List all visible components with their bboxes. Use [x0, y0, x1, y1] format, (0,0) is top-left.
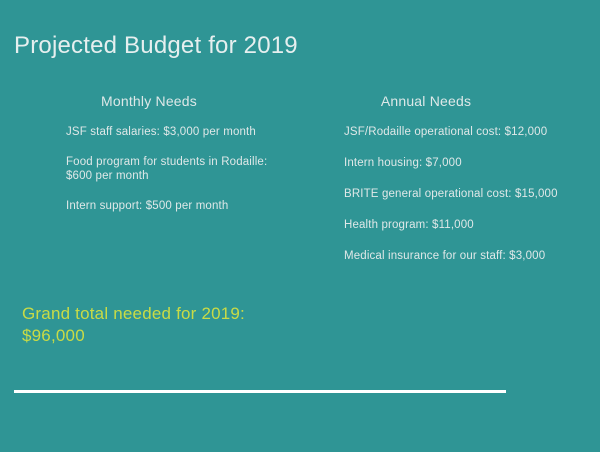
- horizontal-divider: [14, 390, 506, 393]
- list-item: Medical insurance for our staff: $3,000: [310, 249, 590, 263]
- monthly-needs-header: Monthly Needs: [14, 92, 294, 110]
- list-item: BRITE general operational cost: $15,000: [310, 187, 590, 201]
- budget-slide: Projected Budget for 2019 Monthly Needs …: [0, 0, 600, 452]
- list-item: JSF staff salaries: $3,000 per month: [14, 125, 294, 139]
- list-item: Health program: $11,000: [310, 218, 590, 232]
- list-item: JSF/Rodaille operational cost: $12,000: [310, 125, 590, 139]
- annual-needs-list: JSF/Rodaille operational cost: $12,000 I…: [310, 125, 590, 263]
- page-title: Projected Budget for 2019: [14, 32, 298, 60]
- list-item: Food program for students in Rodaille: $…: [14, 155, 294, 183]
- annual-needs-header: Annual Needs: [310, 92, 590, 110]
- annual-needs-column: Annual Needs JSF/Rodaille operational co…: [310, 92, 590, 280]
- list-item: Intern housing: $7,000: [310, 156, 590, 170]
- monthly-needs-column: Monthly Needs JSF staff salaries: $3,000…: [14, 92, 294, 229]
- grand-total-text: Grand total needed for 2019: $96,000: [22, 303, 312, 347]
- monthly-needs-list: JSF staff salaries: $3,000 per month Foo…: [14, 125, 294, 213]
- list-item: Intern support: $500 per month: [14, 199, 294, 213]
